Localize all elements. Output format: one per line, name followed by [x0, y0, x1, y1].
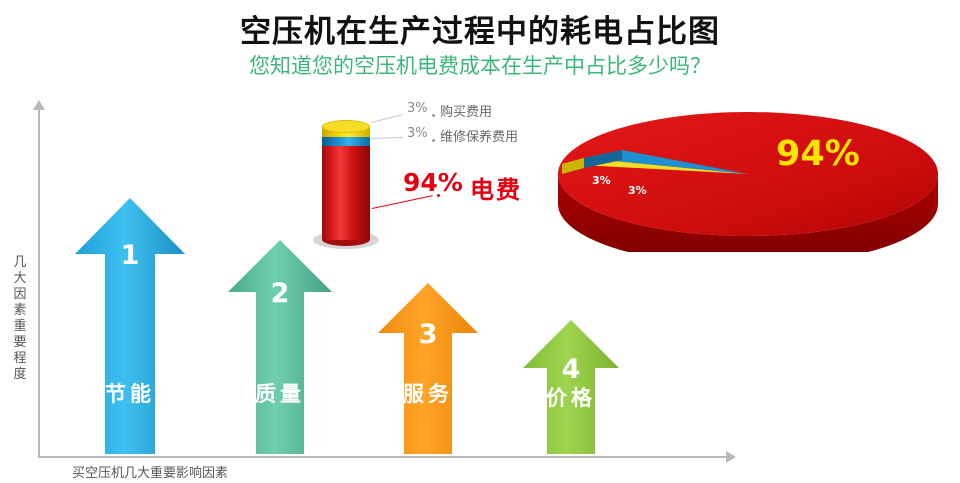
arrow-shape-icon	[228, 240, 332, 454]
page-subtitle: 您知道您的空压机电费成本在生产中占比多少吗？	[0, 50, 960, 80]
callout-leader-line-2	[371, 137, 403, 139]
x-axis-arrow-icon	[726, 451, 736, 463]
highlight-leader-line	[372, 195, 433, 209]
callout-pct-2: 3%	[407, 126, 428, 141]
callout-pct-1: 3%	[407, 101, 428, 116]
cylinder-segment-electricity	[322, 143, 370, 240]
factor-name-2: 质量	[228, 378, 332, 408]
y-axis-arrow-icon	[33, 100, 45, 110]
callout-dot-2	[432, 139, 435, 142]
y-axis-label: 几大因素重要程度	[8, 255, 32, 383]
pie-slice-label-maintenance: 3%	[628, 184, 647, 197]
factor-rank-1: 1	[75, 240, 185, 271]
factor-name-1: 节能	[75, 378, 185, 408]
arrow-shape-icon	[75, 198, 185, 454]
highlight-pct: 94%	[403, 168, 463, 197]
arrow-shape-icon	[378, 283, 478, 454]
callout-dot-1	[432, 114, 435, 117]
factor-rank-3: 3	[378, 319, 478, 350]
pie-center-label: 94%	[776, 134, 860, 174]
factor-name-3: 服务	[378, 378, 478, 408]
x-axis-label: 买空压机几大重要影响因素	[72, 462, 228, 481]
pie-slice-label-purchase: 3%	[592, 174, 611, 187]
page-title: 空压机在生产过程中的耗电占比图	[0, 6, 960, 51]
factor-name-4: 价格	[523, 382, 619, 412]
factor-arrow-3: 3 服务	[378, 283, 478, 454]
factor-arrow-2: 2 质量	[228, 240, 332, 454]
x-axis	[38, 456, 728, 458]
callout-label-2: 维修保养费用	[440, 126, 518, 145]
callout-label-1: 购买费用	[440, 101, 492, 120]
callout-leader-line-1	[371, 114, 402, 123]
pie-chart: 94% 3% 3%	[548, 112, 948, 252]
y-axis	[38, 108, 40, 458]
highlight-label: 电费	[470, 170, 522, 205]
factor-rank-2: 2	[228, 278, 332, 309]
factor-arrow-4: 4 价格	[523, 320, 619, 454]
factor-rank-4: 4	[523, 354, 619, 385]
cylinder-top-cap	[322, 120, 370, 133]
infographic-canvas: 空压机在生产过程中的耗电占比图 您知道您的空压机电费成本在生产中占比多少吗？ 几…	[0, 0, 960, 483]
factor-arrow-1: 1 节能	[75, 198, 185, 454]
